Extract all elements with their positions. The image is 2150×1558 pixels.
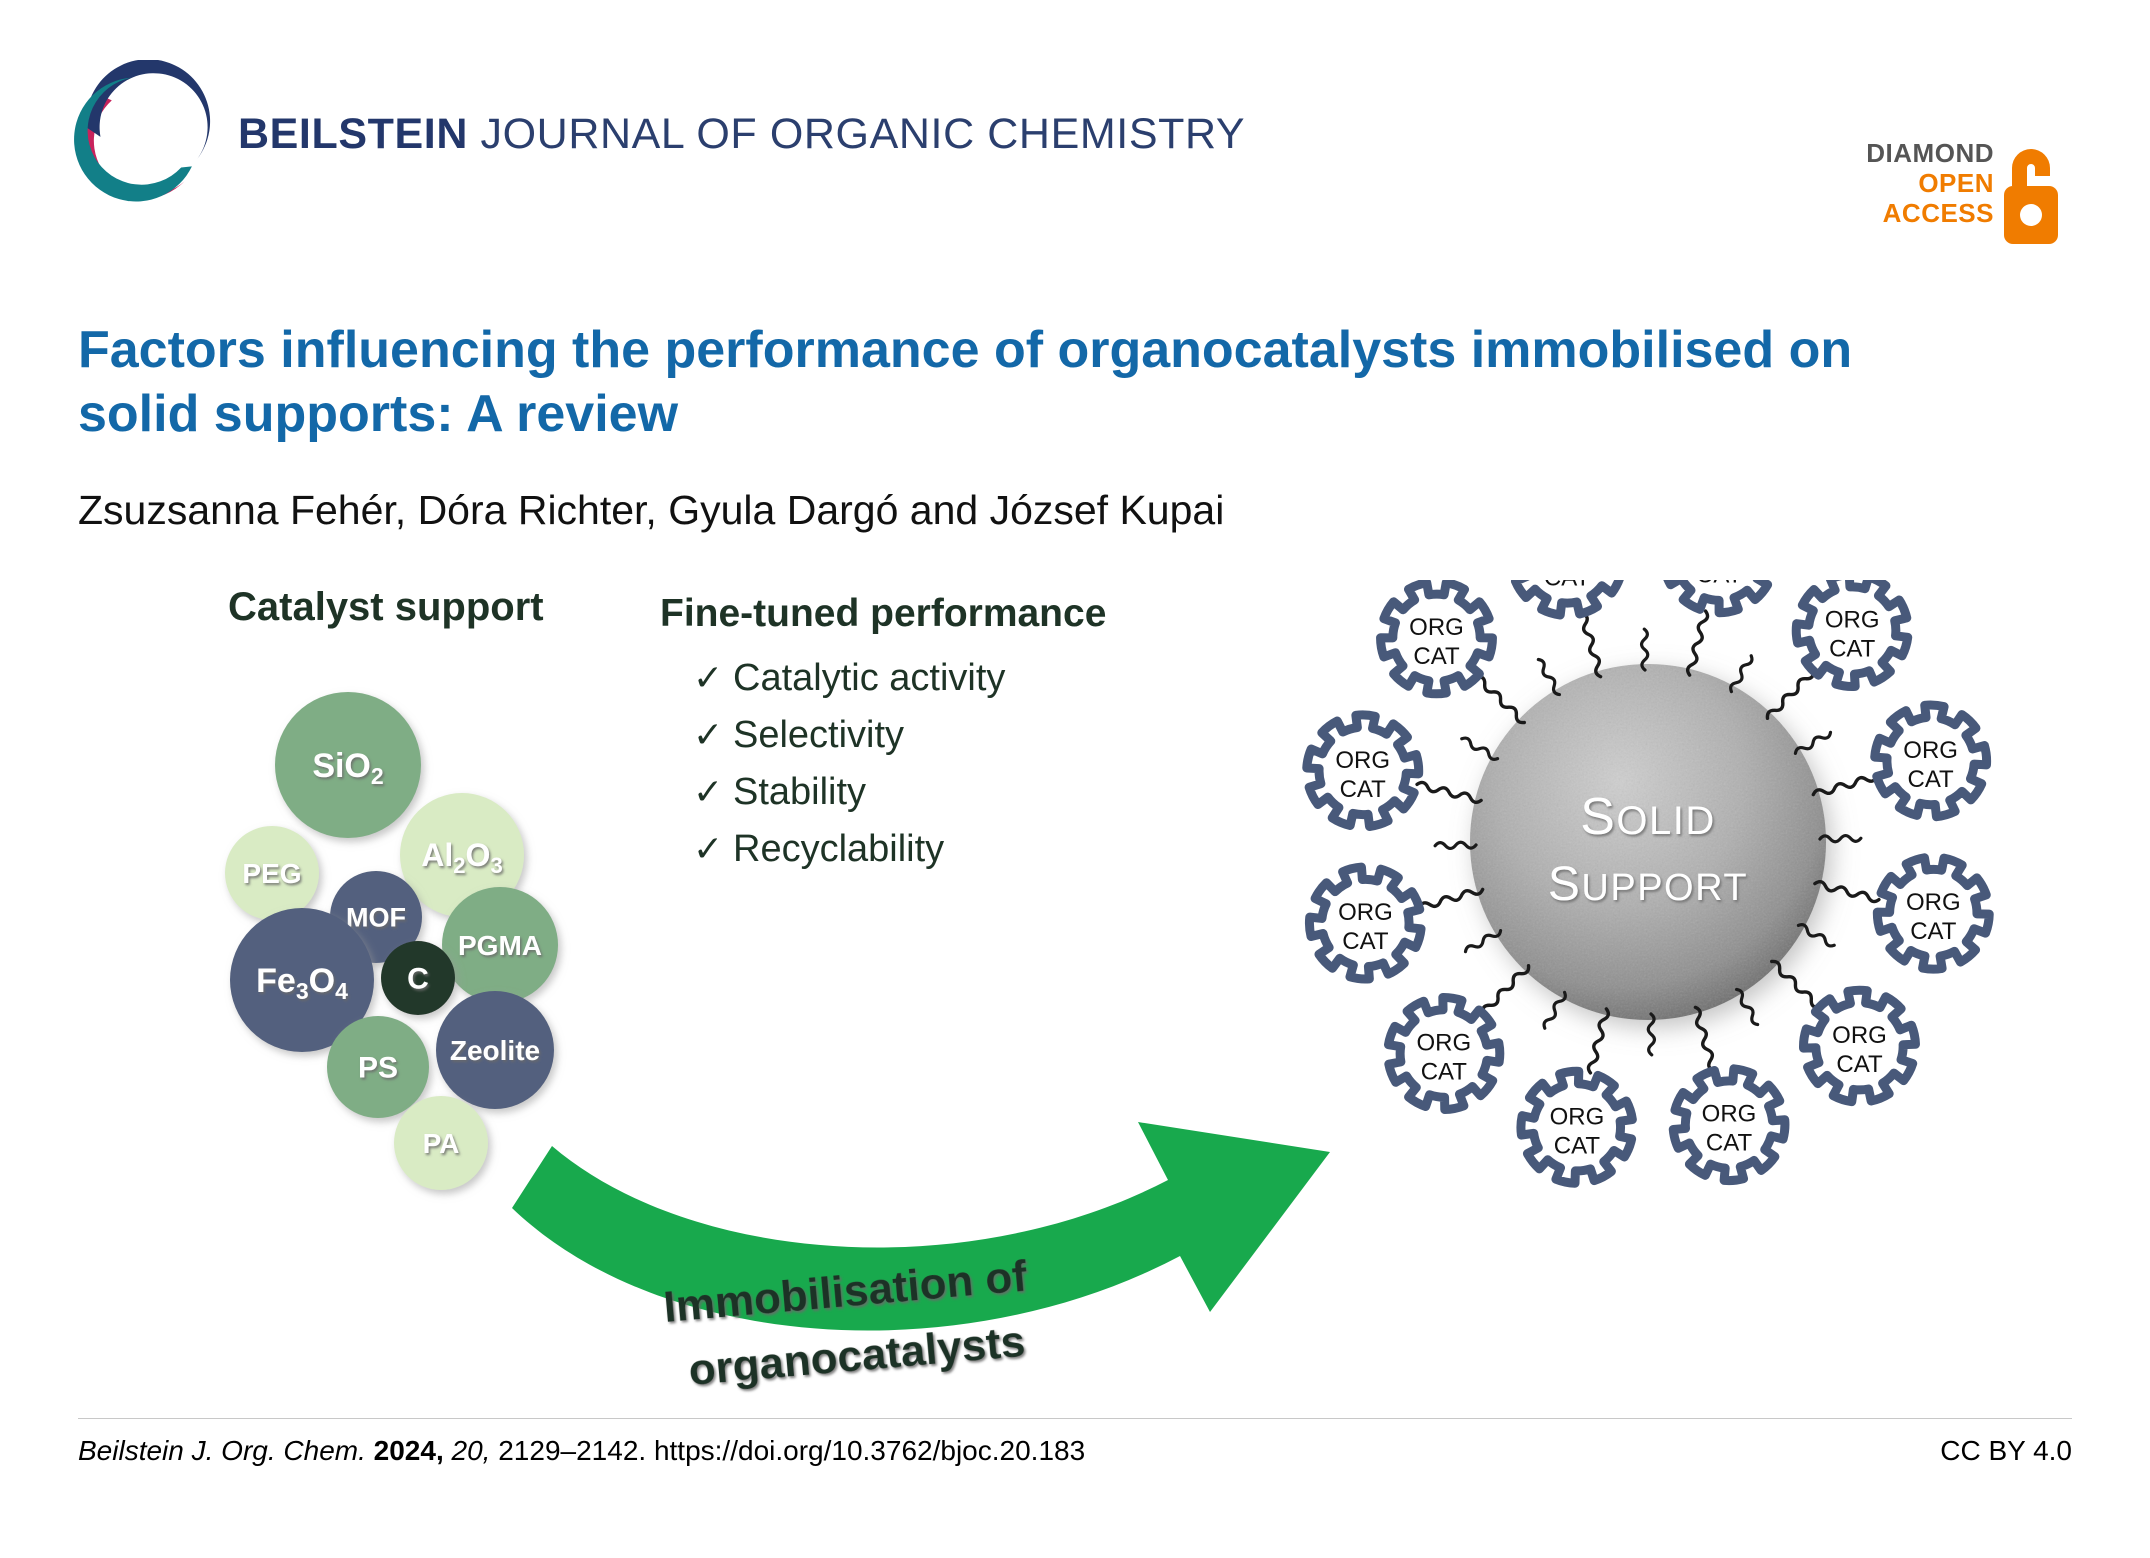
oa-open-label: OPEN [1866, 168, 1994, 198]
gear-label-line2: CAT [1696, 580, 1743, 589]
gear-label-line2: CAT [1413, 643, 1460, 670]
organocatalyst-gear[interactable]: ORGCAT [1854, 684, 2009, 839]
citation-doi[interactable]: https://doi.org/10.3762/bjoc.20.183 [654, 1435, 1085, 1466]
journal-name-light: JOURNAL OF ORGANIC CHEMISTRY [468, 110, 1245, 158]
catalyst-linker [1769, 959, 1821, 1010]
gear-label-line2: CAT [1421, 1059, 1468, 1086]
catalyst-linker [1765, 669, 1816, 721]
graphical-abstract-figure: Catalyst support SiO2PEGAl2O3MOFPGMAFe3O… [0, 580, 2150, 1400]
performance-list: ✓Catalytic activity✓Selectivity✓Stabilit… [693, 657, 1005, 870]
footer-divider [78, 1418, 2072, 1419]
support-circle-label: MOF [346, 902, 406, 932]
support-circle-label: PEG [242, 858, 301, 889]
support-circle-label: Zeolite [450, 1035, 540, 1066]
gear-label-line2: CAT [1554, 1132, 1601, 1159]
catalyst-linker [1435, 842, 1476, 849]
support-circle-peg[interactable]: PEG [225, 826, 319, 920]
citation-pages: 2129–2142. [498, 1435, 646, 1466]
catalyst-linker [1686, 610, 1708, 676]
gear-icon [1373, 580, 1502, 703]
performance-item: ✓Catalytic activity [693, 657, 1005, 699]
check-icon: ✓ [693, 714, 723, 755]
gear-label-line2: CAT [1910, 918, 1957, 945]
linker-squiggle [1480, 963, 1531, 1015]
catalyst-support-circles: SiO2PEGAl2O3MOFPGMAFe3O4CPSZeolitePA [225, 692, 558, 1190]
gear-label-line1: ORG [1903, 737, 1958, 764]
open-lock-icon [1998, 136, 2064, 248]
performance-item-label: Recyclability [733, 828, 944, 870]
support-circle-zeolite[interactable]: Zeolite [436, 991, 554, 1109]
linker-squiggle [1765, 669, 1816, 721]
gear-label-line2: CAT [1907, 766, 1954, 793]
linker-squiggle [1812, 773, 1877, 797]
catalyst-support-heading: Catalyst support [228, 585, 544, 629]
gear-label-line1: ORG [1702, 1101, 1757, 1128]
gear-label-line2: CAT [1706, 1130, 1753, 1157]
linker-squiggle [1686, 610, 1708, 676]
linker-squiggle [1418, 886, 1483, 910]
performance-item-label: Selectivity [733, 714, 904, 756]
catalyst-linker [1579, 612, 1603, 677]
gear-label-line1: ORG [1335, 747, 1390, 774]
catalyst-linker [1587, 1008, 1609, 1074]
journal-name-bold: BEILSTEIN [238, 110, 468, 158]
linker-squiggle [1435, 842, 1476, 849]
catalyst-linker [1480, 963, 1531, 1015]
support-circle-label: PS [358, 1052, 398, 1085]
support-circle-label: PGMA [458, 930, 542, 961]
catalyst-linker [1641, 629, 1648, 670]
support-circle-c[interactable]: C [381, 941, 455, 1015]
check-icon: ✓ [693, 657, 723, 698]
license-label: CC BY 4.0 [1940, 1435, 2072, 1467]
linker-squiggle [1579, 612, 1603, 677]
gear-label-line2: CAT [1544, 580, 1591, 591]
citation-year: 2024, [374, 1435, 444, 1466]
catalyst-linker [1475, 674, 1527, 725]
organocatalyst-gear[interactable]: ORGCAT [1783, 580, 1922, 700]
gear-label-line2: CAT [1836, 1051, 1883, 1078]
support-circle-label: C [407, 963, 429, 996]
open-access-text: DIAMOND OPEN ACCESS [1866, 138, 1994, 228]
linker-squiggle [1641, 629, 1648, 670]
organocatalyst-gear[interactable]: ORGCAT [1669, 1064, 1789, 1185]
catalyst-linker [1648, 1014, 1655, 1055]
immobilisation-arrow-group: Immobilisation of organocatalysts [512, 1122, 1330, 1395]
beilstein-swirl-logo [58, 60, 218, 220]
gear-label-line1: ORG [1550, 1103, 1605, 1130]
linker-squiggle [1814, 880, 1880, 902]
linker-squiggle [1416, 781, 1482, 803]
open-access-badge: DIAMOND OPEN ACCESS [1848, 68, 2098, 188]
linker-squiggle [1820, 835, 1861, 842]
organocatalyst-gear[interactable]: ORGCAT [1286, 694, 1440, 848]
performance-item: ✓Recyclability [693, 828, 944, 870]
catalyst-linker [1418, 886, 1483, 910]
organocatalyst-gear[interactable]: ORGCAT [1297, 854, 1435, 992]
graphical-abstract: Catalyst support SiO2PEGAl2O3MOFPGMAFe3O… [0, 580, 2150, 1400]
check-icon: ✓ [693, 828, 723, 869]
support-circle-sio[interactable]: SiO2 [275, 692, 421, 838]
linker-squiggle [1475, 674, 1527, 725]
catalyst-linker [1820, 835, 1861, 842]
gear-label-line1: ORG [1338, 899, 1393, 926]
catalyst-linker [1812, 773, 1877, 797]
catalyst-linker [1814, 880, 1880, 902]
linker-squiggle [1769, 959, 1821, 1010]
gear-label-line1: ORG [1832, 1022, 1887, 1049]
gear-label-line1: ORG [1409, 614, 1464, 641]
organocatalyst-gear[interactable]: ORGCAT [1664, 580, 1775, 613]
citation-journal: Beilstein J. Org. Chem. [78, 1435, 366, 1466]
journal-title: BEILSTEIN JOURNAL OF ORGANIC CHEMISTRY [238, 110, 1245, 159]
performance-item: ✓Selectivity [693, 714, 904, 756]
performance-item: ✓Stability [693, 771, 866, 813]
oa-access-label: ACCESS [1866, 198, 1994, 228]
page-header: BEILSTEIN JOURNAL OF ORGANIC CHEMISTRY D… [0, 0, 2150, 190]
gear-label-line1: ORG [1416, 1030, 1471, 1057]
support-circle-ps[interactable]: PS [327, 1016, 429, 1118]
catalyst-linker [1416, 781, 1482, 803]
catalyst-linker [1692, 1006, 1716, 1071]
gear-label-line1: ORG [1906, 889, 1961, 916]
organocatalyst-gear[interactable]: ORGCAT [1373, 580, 1502, 703]
citation-line: Beilstein J. Org. Chem. 2024, 20, 2129–2… [78, 1435, 1085, 1467]
linker-squiggle [1587, 1008, 1609, 1074]
support-circle-label: PA [423, 1128, 460, 1159]
support-circle-pa[interactable]: PA [394, 1096, 488, 1190]
performance-item-label: Catalytic activity [733, 657, 1005, 699]
gear-label-line1: ORG [1825, 607, 1880, 634]
page-title: Factors influencing the performance of o… [78, 318, 1908, 446]
organocatalyst-gear[interactable]: ORGCAT [1869, 848, 1999, 979]
author-list: Zsuzsanna Fehér, Dóra Richter, Gyula Dar… [78, 487, 1908, 534]
organocatalyst-gear[interactable]: ORGCAT [1505, 1055, 1650, 1200]
solid-support-group: SOLID SUPPORT ORGCATORGCATORGCATORGCATOR… [1286, 580, 2008, 1200]
catalyst-support-group: Catalyst support SiO2PEGAl2O3MOFPGMAFe3O… [225, 585, 558, 1190]
linker-squiggle [1648, 1014, 1655, 1055]
gear-label-line2: CAT [1342, 928, 1389, 955]
performance-heading: Fine-tuned performance [660, 592, 1106, 635]
organocatalyst-gear[interactable]: ORGCAT [1492, 580, 1642, 635]
gear-label-line2: CAT [1340, 776, 1387, 803]
oa-diamond-label: DIAMOND [1866, 138, 1994, 168]
linker-squiggle [1692, 1006, 1716, 1071]
gear-label-line2: CAT [1829, 636, 1876, 663]
performance-item-label: Stability [733, 771, 866, 813]
check-icon: ✓ [693, 771, 723, 812]
fine-tuned-performance-group: Fine-tuned performance ✓Catalytic activi… [660, 592, 1106, 870]
support-circle-pgma[interactable]: PGMA [442, 887, 558, 1003]
citation-volume: 20, [452, 1435, 491, 1466]
